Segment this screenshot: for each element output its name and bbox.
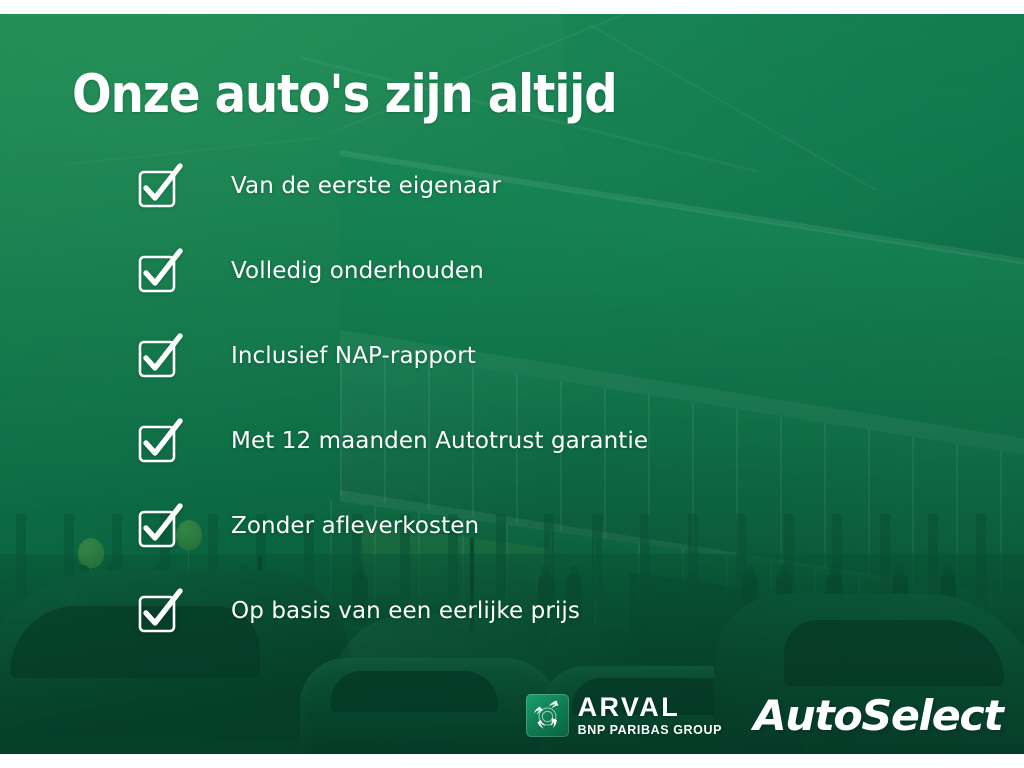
checkbox-checked-icon [136,423,182,467]
bottom-white-strip [0,754,1024,768]
list-item-label: Zonder afleverkosten [231,511,479,541]
list-item-label: Inclusief NAP-rapport [231,341,476,371]
promo-slide: Onze auto's zijn altijd Van de eerste ei… [0,0,1024,768]
arval-wordmark: ARVAL BNP PARIBAS GROUP [578,694,722,737]
list-item-label: Volledig onderhouden [231,256,484,286]
list-item-label: Van de eerste eigenaar [231,171,501,201]
slide-content: Onze auto's zijn altijd Van de eerste ei… [0,0,1024,768]
autoselect-logo: AutoSelect [754,691,1003,740]
list-item: Op basis van een eerlijke prijs [136,591,956,676]
checkbox-checked-icon [136,593,182,637]
arval-name: ARVAL [578,694,722,721]
page-title: Onze auto's zijn altijd [72,68,617,121]
list-item: Met 12 maanden Autotrust garantie [136,421,956,506]
checkbox-checked-icon [136,168,182,212]
checkbox-checked-icon [136,253,182,297]
arval-logo: ARVAL BNP PARIBAS GROUP [526,694,722,737]
arval-subtitle: BNP PARIBAS GROUP [578,724,722,737]
list-item-label: Met 12 maanden Autotrust garantie [231,426,648,456]
checkbox-checked-icon [136,338,182,382]
bnp-paribas-stars-icon [526,694,569,737]
logo-bar: ARVAL BNP PARIBAS GROUP AutoSelect [526,691,1000,740]
list-item-label: Op basis van een eerlijke prijs [231,596,580,626]
benefits-checklist: Van de eerste eigenaar Volledig onderhou… [136,166,956,676]
list-item: Zonder afleverkosten [136,506,956,591]
list-item: Inclusief NAP-rapport [136,336,956,421]
list-item: Volledig onderhouden [136,251,956,336]
list-item: Van de eerste eigenaar [136,166,956,251]
checkbox-checked-icon [136,508,182,552]
top-white-strip [0,0,1024,14]
